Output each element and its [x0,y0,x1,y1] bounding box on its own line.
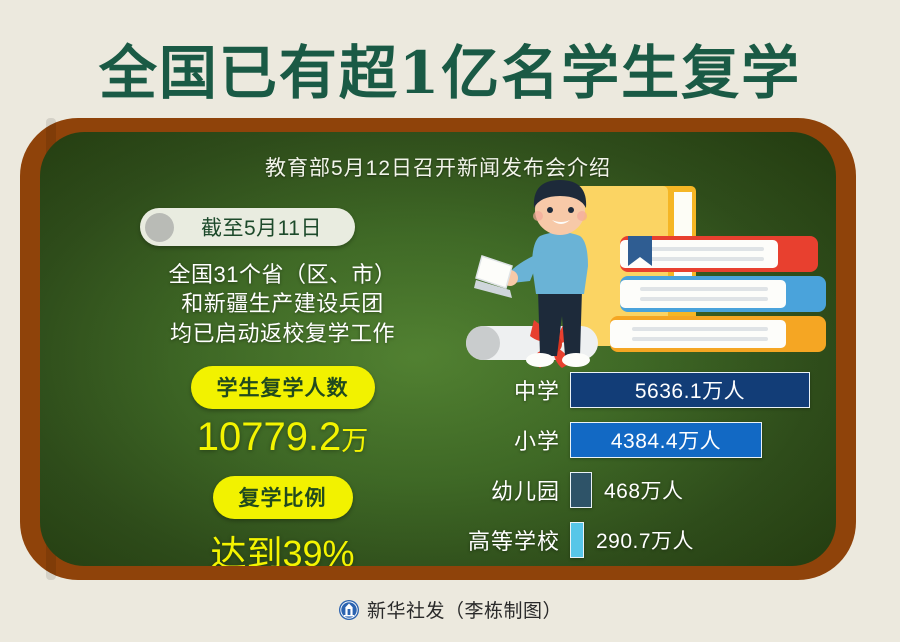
illustration-student-with-laptop-and-books [460,174,830,394]
chalkboard: 教育部5月12日召开新闻发布会介绍 [40,132,836,566]
description-line-2: 和新疆生产建设兵团 [140,289,425,318]
bar-row-middle-school: 中学 5636.1万人 [448,372,828,408]
bar-value-middle-school: 5636.1万人 [635,375,745,405]
bar-chart: 中学 5636.1万人 小学 4384.4万人 幼儿园 468万人 [448,372,828,566]
bar-row-kindergarten: 幼儿园 468万人 [448,472,828,508]
bar-row-primary-school: 小学 4384.4万人 [448,422,828,458]
stat-value-number: 10779.2 [197,415,342,459]
bar-row-higher-education: 高等学校 290.7万人 [448,522,828,558]
bar-kindergarten [570,472,592,508]
infographic-page: 全国已有超1亿名学生复学 教育部5月12日召开新闻发布会介绍 [0,0,900,642]
subtitle: 教育部5月12日召开新闻发布会介绍 [40,152,836,182]
bar-value-kindergarten: 468万人 [604,475,684,505]
stat-badge-resumed-students: 学生复学人数 [191,366,375,409]
stat-resumed-students: 学生复学人数 10779.2万 [140,366,425,460]
page-title: 全国已有超1亿名学生复学 [0,26,900,110]
stacked-books-icon [610,236,826,352]
bar-label-kindergarten: 幼儿园 [448,474,570,506]
stat-resume-ratio: 复学比例 达到39% [140,476,425,566]
bar-middle-school: 5636.1万人 [570,372,810,408]
bar-label-primary-school: 小学 [448,424,570,456]
description-text: 全国31个省（区、市） 和新疆生产建设兵团 均已启动返校复学工作 [140,260,425,348]
date-badge-label: 截至5月11日 [174,212,355,242]
bar-value-primary-school: 4384.4万人 [611,425,721,455]
footer-credit: 新华社发（李栋制图） [367,596,562,623]
stat-badge-resume-ratio: 复学比例 [213,476,353,519]
stat-ratio-number: 达到39% [210,533,354,566]
date-badge: 截至5月11日 [140,208,355,246]
stat-value-resumed-students: 10779.2万 [140,415,425,460]
bar-value-higher-education: 290.7万人 [596,525,694,555]
description-line-1: 全国31个省（区、市） [140,260,425,289]
bar-label-higher-education: 高等学校 [448,524,570,556]
gray-circle-icon [145,213,174,242]
footer: 新华社发（李栋制图） [0,596,900,623]
chalkboard-frame: 教育部5月12日召开新闻发布会介绍 [20,118,856,580]
bar-higher-education [570,522,584,558]
description-line-3: 均已启动返校复学工作 [140,319,425,348]
left-info-column: 截至5月11日 全国31个省（区、市） 和新疆生产建设兵团 均已启动返校复学工作… [140,208,440,566]
stat-value-unit: 万 [341,426,368,456]
xinhua-logo-icon [338,599,360,621]
stat-value-resume-ratio: 达到39% [140,525,425,566]
bar-label-middle-school: 中学 [448,374,570,406]
bar-primary-school: 4384.4万人 [570,422,762,458]
